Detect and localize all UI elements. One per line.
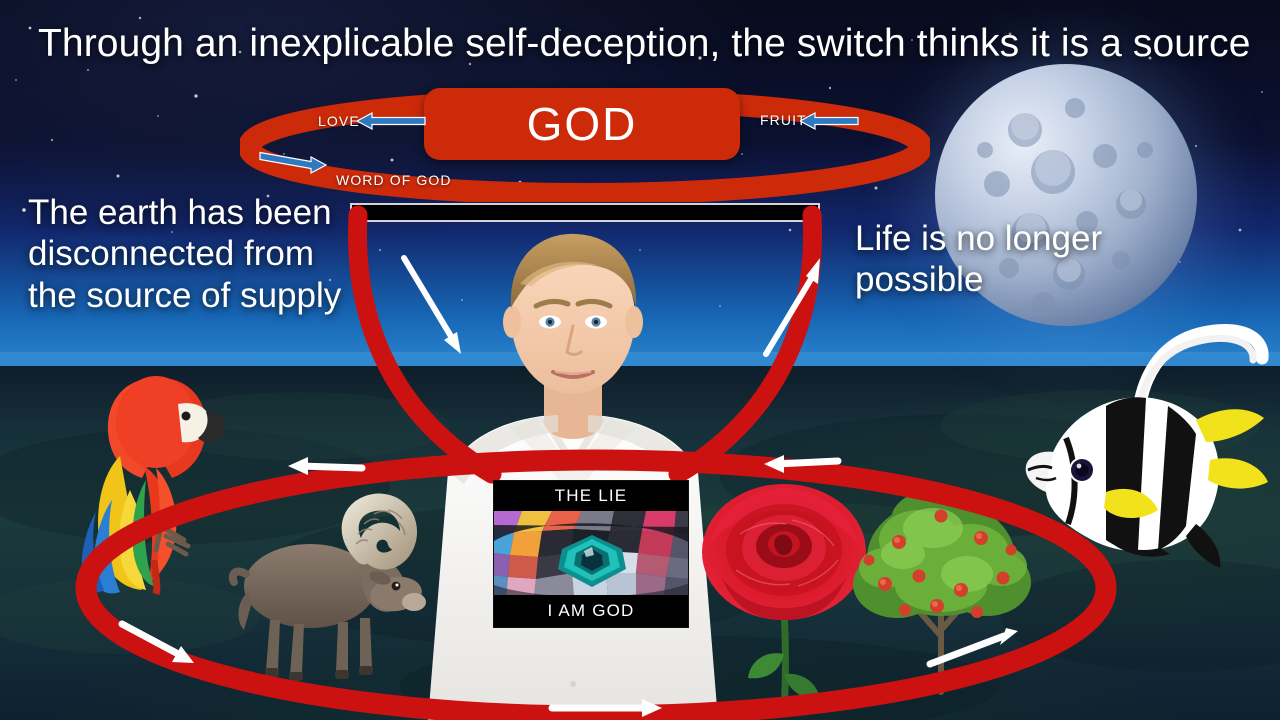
right-caption: Life is no longer possible xyxy=(855,218,1155,301)
broken-switch-bar[interactable] xyxy=(350,203,820,222)
left-caption: The earth has been disconnected from the… xyxy=(28,192,368,316)
right-arrow-icon xyxy=(258,148,328,176)
ram-image xyxy=(218,482,433,687)
god-node[interactable]: GOD xyxy=(424,88,740,160)
god-label: GOD xyxy=(527,97,638,151)
the-lie-top-label: THE LIE xyxy=(494,481,688,511)
orbit-label-love: LOVE xyxy=(318,113,360,129)
page-title: Through an inexplicable self-deception, … xyxy=(38,22,1208,66)
i-am-god-label: I AM GOD xyxy=(494,595,688,627)
the-lie-panel[interactable]: THE LIE xyxy=(493,480,689,628)
left-arrow-icon xyxy=(800,110,860,132)
orbit-label-word-of-god: WORD OF GOD xyxy=(336,172,452,188)
slide-canvas: Through an inexplicable self-deception, … xyxy=(0,0,1280,720)
low-poly-eye-image xyxy=(494,511,688,595)
moorish-idol-fish-image xyxy=(1010,310,1275,575)
man-portrait-image xyxy=(408,222,738,720)
left-arrow-icon xyxy=(357,110,427,132)
